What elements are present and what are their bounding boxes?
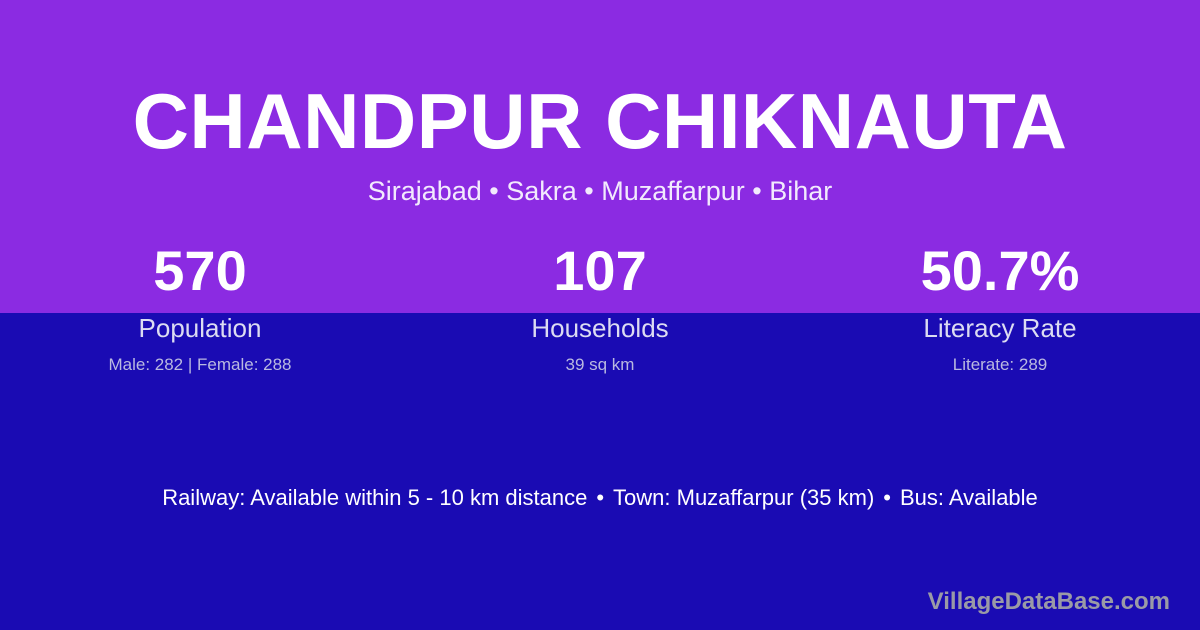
stat-literacy-label: Literacy Rate xyxy=(800,313,1200,344)
stat-households: 107 Households 39 sq km xyxy=(400,243,800,376)
amenities-line: Railway: Available within 5 - 10 km dist… xyxy=(0,485,1200,511)
stat-households-label: Households xyxy=(400,313,800,344)
site-brand: VillageDataBase.com xyxy=(928,588,1170,616)
info-separator-2: • xyxy=(874,485,900,510)
info-separator-1: • xyxy=(587,485,613,510)
railway-info: Railway: Available within 5 - 10 km dist… xyxy=(162,485,587,510)
header: CHANDPUR CHIKNAUTA Sirajabad • Sakra • M… xyxy=(0,0,1200,207)
stat-literacy: 50.7% Literacy Rate Literate: 289 xyxy=(800,243,1200,376)
stat-households-sub: 39 sq km xyxy=(400,355,800,375)
stat-households-value: 107 xyxy=(400,243,800,309)
village-info-card: CHANDPUR CHIKNAUTA Sirajabad • Sakra • M… xyxy=(0,0,1200,630)
breadcrumb: Sirajabad • Sakra • Muzaffarpur • Bihar xyxy=(0,176,1200,207)
page-title: CHANDPUR CHIKNAUTA xyxy=(0,82,1200,160)
stat-literacy-value: 50.7% xyxy=(800,243,1200,309)
town-info: Town: Muzaffarpur (35 km) xyxy=(613,485,874,510)
stat-population-value: 570 xyxy=(0,243,400,309)
stat-population-label: Population xyxy=(0,313,400,344)
stats-row: 570 Population Male: 282 | Female: 288 1… xyxy=(0,243,1200,376)
stat-population: 570 Population Male: 282 | Female: 288 xyxy=(0,243,400,376)
stat-population-sub: Male: 282 | Female: 288 xyxy=(0,355,400,375)
bus-info: Bus: Available xyxy=(900,485,1038,510)
stat-literacy-sub: Literate: 289 xyxy=(800,355,1200,375)
